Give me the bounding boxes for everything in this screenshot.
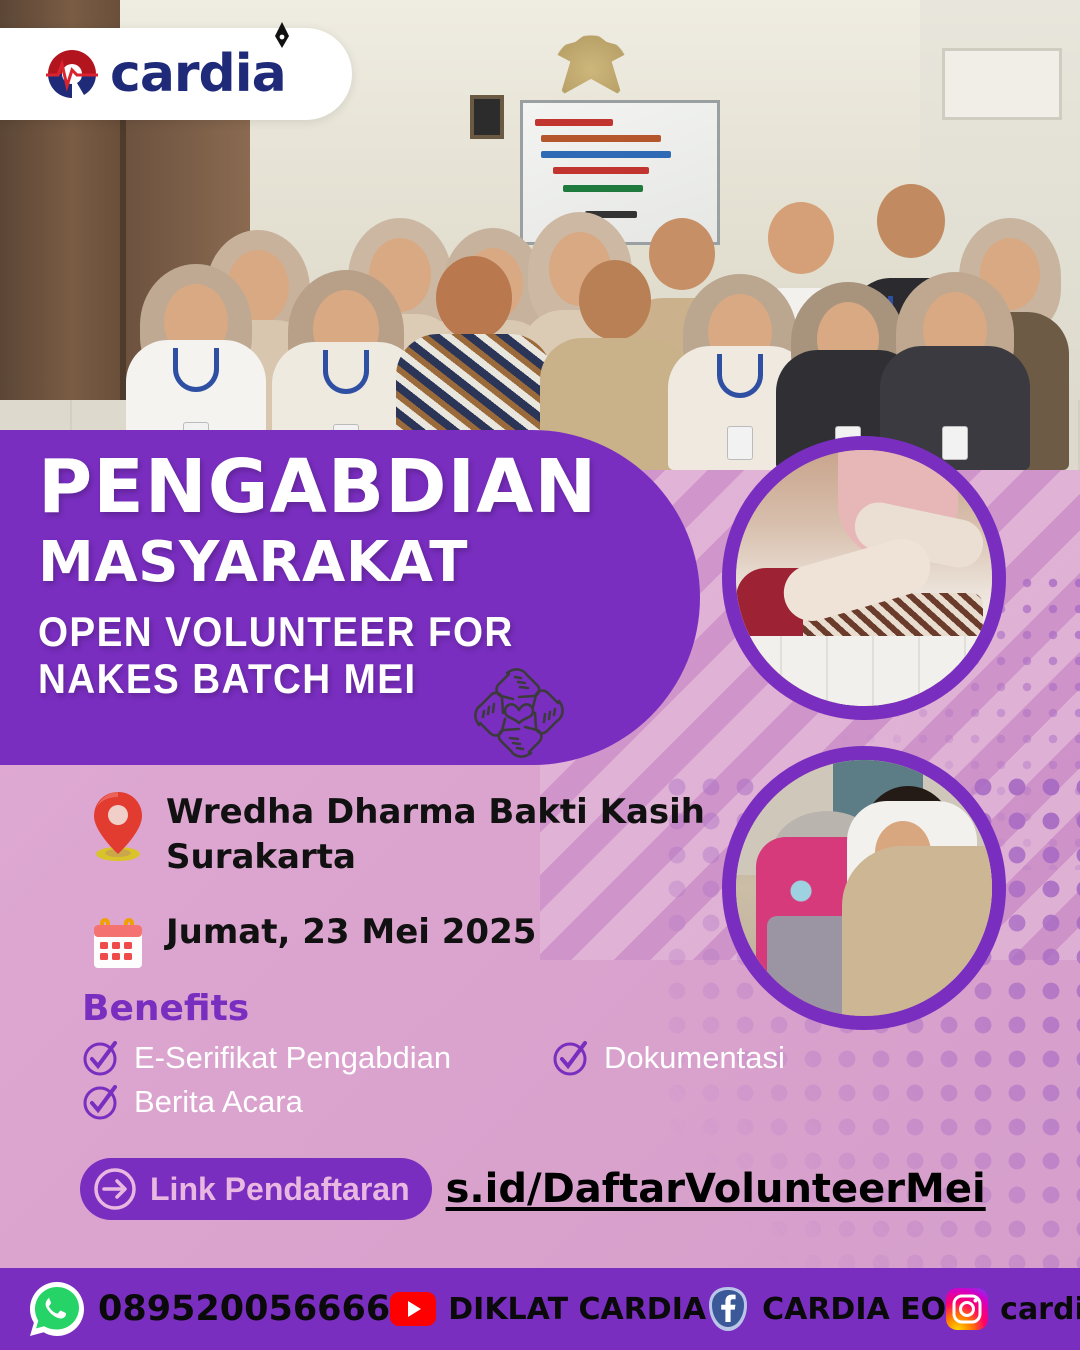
- date-text: Jumat, 23 Mei 2025: [166, 910, 536, 955]
- benefit-label: E-Serifikat Pengabdian: [134, 1040, 451, 1076]
- pen-nib-icon: [274, 22, 290, 48]
- whatsapp-contact[interactable]: 089520056666: [28, 1280, 390, 1338]
- facebook-contact[interactable]: CARDIA EO: [706, 1286, 946, 1332]
- brand-name: cardia: [110, 48, 286, 100]
- youtube-icon: [390, 1292, 436, 1326]
- wall-cabinet: [942, 48, 1062, 120]
- youtube-contact[interactable]: DIKLAT CARDIA: [390, 1292, 706, 1327]
- person: [880, 264, 1030, 470]
- location-row: Wredha Dharma Bakti Kasih Surakarta: [90, 790, 730, 880]
- location-line-1: Wredha Dharma Bakti Kasih: [166, 792, 705, 832]
- instagram-contact[interactable]: cardia.eo: [946, 1288, 1080, 1330]
- registration-url[interactable]: s.id/DaftarVolunteerMei: [446, 1166, 986, 1212]
- headline-line-2: MASYARAKAT: [38, 535, 678, 591]
- benefit-label: Dokumentasi: [604, 1040, 785, 1076]
- benefit-label: Berita Acara: [134, 1084, 303, 1120]
- instagram-handle: cardia.eo: [1000, 1292, 1080, 1327]
- benefit-item: Dokumentasi: [552, 1039, 785, 1077]
- headline-group: PENGABDIAN MASYARAKAT OPEN VOLUNTEER FOR…: [38, 452, 678, 702]
- benefits-section: Benefits E-Serifikat Pengabdian: [82, 988, 842, 1127]
- benefit-item: Berita Acara: [82, 1083, 842, 1121]
- headline-line-1: PENGABDIAN: [38, 452, 678, 523]
- date-row: Jumat, 23 Mei 2025: [90, 910, 730, 972]
- health-screening-photo: [722, 436, 1006, 720]
- youtube-channel: DIKLAT CARDIA: [448, 1292, 706, 1327]
- check-circle-icon: [82, 1039, 120, 1077]
- cardia-heartbeat-icon: [44, 46, 100, 102]
- location-line-2: Surakarta: [166, 837, 356, 877]
- registration-label: Link Pendaftaran: [150, 1171, 410, 1208]
- instagram-icon: [946, 1288, 988, 1330]
- registration-link-pill[interactable]: Link Pendaftaran: [80, 1158, 432, 1220]
- check-circle-icon: [552, 1039, 590, 1077]
- brand-logo: cardia: [0, 28, 352, 120]
- arrow-right-circle-icon: [92, 1166, 138, 1212]
- calendar-icon: [90, 914, 146, 972]
- facebook-page: CARDIA EO: [762, 1292, 946, 1327]
- footer-contact-bar: 089520056666 DIKLAT CARDIA CARDIA EO: [0, 1268, 1080, 1350]
- headline-line-3a: OPEN VOLUNTEER FOR: [38, 609, 627, 654]
- benefits-title: Benefits: [82, 988, 842, 1029]
- whatsapp-number: 089520056666: [98, 1289, 390, 1329]
- helping-hands-heart-icon: [463, 657, 575, 769]
- event-details: Wredha Dharma Bakti Kasih Surakarta: [90, 790, 730, 1002]
- location-text: Wredha Dharma Bakti Kasih Surakarta: [166, 790, 705, 880]
- poster-canvas: cardia PENGABDIAN MASYARAKAT OPEN VOLUNT…: [0, 0, 1080, 1350]
- whatsapp-icon: [28, 1280, 86, 1338]
- wall-portrait-frame: [470, 95, 504, 139]
- people-group: [0, 140, 1080, 470]
- location-pin-icon: [90, 790, 146, 862]
- check-circle-icon: [82, 1083, 120, 1121]
- facebook-icon: [706, 1286, 750, 1332]
- registration-row[interactable]: Link Pendaftaran s.id/DaftarVolunteerMei: [80, 1158, 986, 1220]
